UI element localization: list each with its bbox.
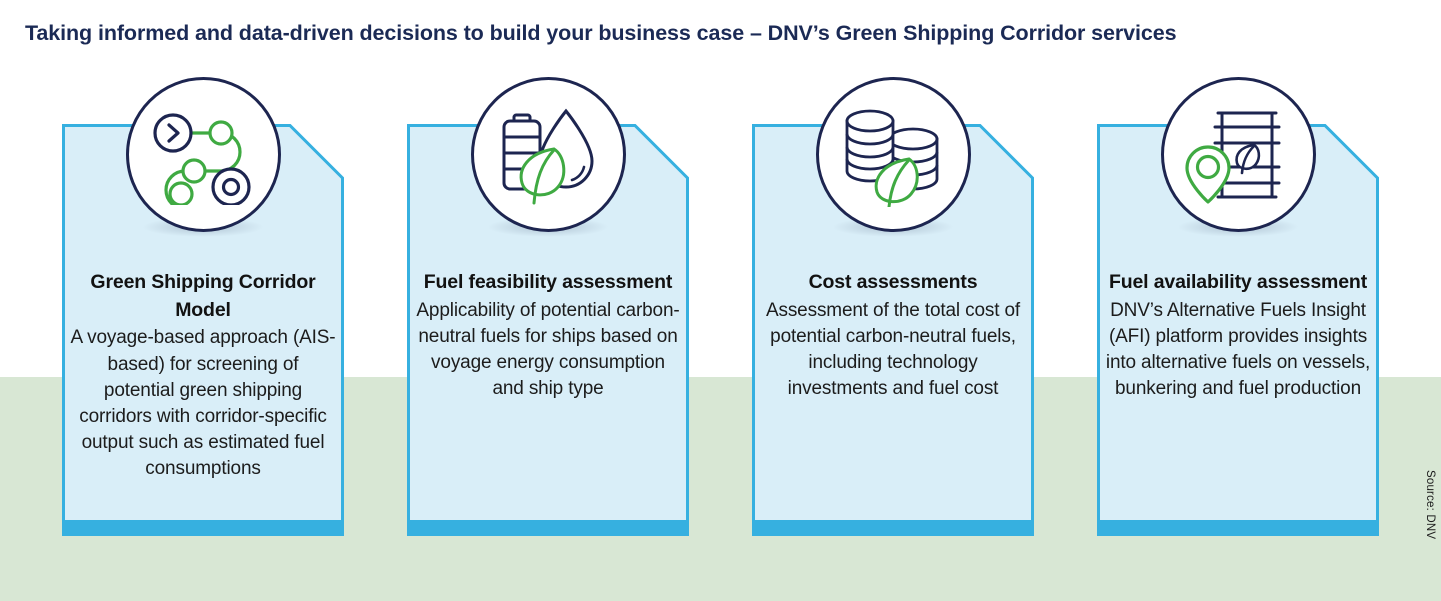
- card-body-text: A voyage-based approach (AIS-based) for …: [70, 325, 336, 482]
- card-text-block: Fuel feasibility assessment Applicabilit…: [415, 269, 681, 403]
- card-icon-area: [62, 77, 344, 237]
- card-heading: Cost assessments: [760, 269, 1026, 297]
- card-icon-area: [752, 77, 1034, 237]
- card-text-block: Cost assessments Assessment of the total…: [760, 269, 1026, 403]
- battery-droplet-leaf-icon: [471, 77, 626, 232]
- route-corridor-icon: [126, 77, 281, 232]
- source-credit: Source: DNV: [1424, 470, 1436, 539]
- page-title: Taking informed and data-driven decision…: [25, 21, 1176, 46]
- card-text-block: Fuel availability assessment DNV’s Alter…: [1105, 269, 1371, 403]
- card-cost-assessments[interactable]: Cost assessments Assessment of the total…: [752, 124, 1034, 536]
- card-text-block: Green Shipping Corridor Model A voyage-b…: [70, 269, 336, 483]
- card-heading: Fuel availability assessment: [1105, 269, 1371, 297]
- fuel-barrel-leaf-location-pin-icon: [1161, 77, 1316, 232]
- card-heading: Fuel feasibility assessment: [415, 269, 681, 297]
- card-fuel-availability-assessment[interactable]: Fuel availability assessment DNV’s Alter…: [1097, 124, 1379, 536]
- card-icon-area: [407, 77, 689, 237]
- card-green-shipping-corridor-model[interactable]: Green Shipping Corridor Model A voyage-b…: [62, 124, 344, 536]
- card-icon-area: [1097, 77, 1379, 237]
- card-body-text: Assessment of the total cost of potentia…: [760, 298, 1026, 403]
- card-heading: Green Shipping Corridor Model: [70, 269, 336, 324]
- card-body-text: Applicability of potential carbon-neutra…: [415, 298, 681, 403]
- card-fuel-feasibility-assessment[interactable]: Fuel feasibility assessment Applicabilit…: [407, 124, 689, 536]
- coin-stacks-leaf-icon: [816, 77, 971, 232]
- card-body-text: DNV’s Alternative Fuels Insight (AFI) pl…: [1105, 298, 1371, 403]
